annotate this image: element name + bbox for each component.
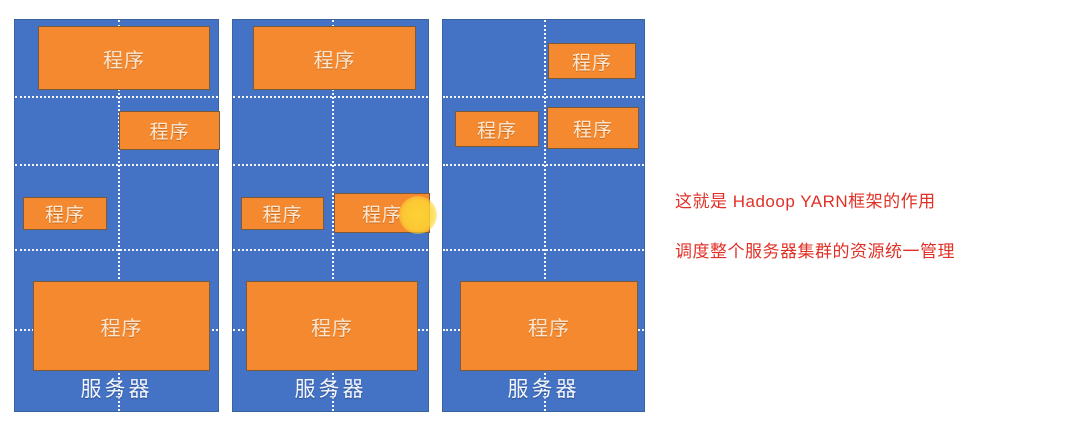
annotation-text: 这就是 Hadoop YARN框架的作用: [675, 187, 936, 212]
program-block[interactable]: 程序: [334, 193, 430, 233]
resource-grid-line-horizontal: [15, 164, 218, 166]
server-name-label: 服务器: [443, 373, 644, 403]
resource-grid-line-horizontal: [233, 164, 428, 166]
program-block[interactable]: 程序: [33, 281, 210, 371]
program-block[interactable]: 程序: [253, 26, 416, 90]
resource-grid-line-horizontal: [443, 249, 644, 251]
program-block[interactable]: 程序: [246, 281, 418, 371]
resource-grid-line-horizontal: [15, 249, 218, 251]
resource-grid-line-horizontal: [15, 96, 218, 98]
program-block[interactable]: 程序: [241, 197, 324, 230]
server-panel[interactable]: 程序程序程序程序服务器: [232, 19, 429, 412]
server-panel[interactable]: 程序程序程序程序服务器: [442, 19, 645, 412]
annotation-text: 调度整个服务器集群的资源统一管理: [675, 237, 955, 262]
program-block[interactable]: 程序: [119, 111, 220, 150]
program-block[interactable]: 程序: [460, 281, 638, 371]
program-block[interactable]: 程序: [547, 107, 639, 149]
server-panel[interactable]: 程序程序程序程序服务器: [14, 19, 219, 412]
program-block[interactable]: 程序: [38, 26, 210, 90]
server-name-label: 服务器: [15, 373, 218, 403]
resource-grid-line-horizontal: [443, 164, 644, 166]
diagram-canvas: 程序程序程序程序服务器程序程序程序程序服务器程序程序程序程序服务器 这就是 Ha…: [0, 0, 1084, 426]
resource-grid-line-horizontal: [443, 96, 644, 98]
server-name-label: 服务器: [233, 373, 428, 403]
program-block[interactable]: 程序: [455, 111, 539, 147]
resource-grid-line-horizontal: [233, 96, 428, 98]
resource-grid-line-horizontal: [233, 249, 428, 251]
program-block[interactable]: 程序: [23, 197, 107, 230]
program-block[interactable]: 程序: [548, 43, 636, 79]
